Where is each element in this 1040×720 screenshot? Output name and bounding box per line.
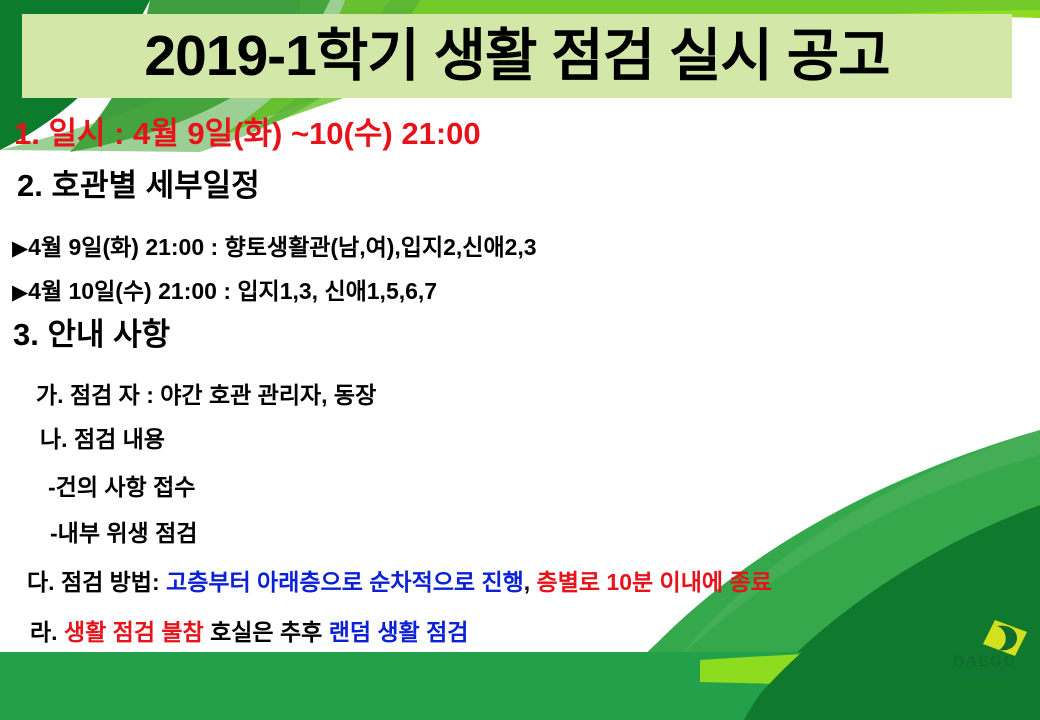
triangle-bullet-icon: ▶ [12,281,28,304]
notice-item-d-blue: 랜덤 생활 점검 [329,619,469,645]
notice-item-d-label: 라. [30,619,64,645]
triangle-bullet-icon: ▶ [12,237,28,260]
schedule-item-1: ▶4월 9일(화) 21:00 : 향토생활관(남,여),입지2,신애2,3 [12,236,537,259]
logo-subtitle: UNIVERSITY [954,671,1034,682]
notice-item-c-label: 다. 점검 방법: [27,569,166,595]
notice-item-a: 가. 점검 자 : 야간 호관 관리자, 동장 [36,384,376,407]
schedule-item-2: ▶4월 10일(수) 21:00 : 입지1,3, 신애1,5,6,7 [12,280,437,303]
notice-item-d-red: 생활 점검 불참 [64,619,204,645]
schedule-item-1-text: 4월 9일(화) 21:00 : 향토생활관(남,여),입지2,신애2,3 [28,234,536,260]
bottom-green-band [0,652,1040,720]
schedule-item-2-text: 4월 10일(수) 21:00 : 입지1,3, 신애1,5,6,7 [28,278,437,304]
section-2-heading: 2. 호관별 세부일정 [17,170,260,201]
notice-item-d: 라. 생활 점검 불참 호실은 추후 랜덤 생활 점검 [30,621,468,644]
notice-item-c-blue: 고층부터 아래층으로 순차적으로 진행 [166,569,524,595]
university-logo: DAEGU UNIVERSITY [953,618,1033,696]
notice-item-d-mid: 호실은 추후 [204,619,329,645]
notice-item-c-red: 층별로 10분 이내에 종료 [537,569,772,595]
notice-item-c: 다. 점검 방법: 고층부터 아래층으로 순차적으로 진행, 층별로 10분 이… [27,571,772,594]
notice-detail-1: -건의 사항 접수 [48,476,195,499]
section-1-datetime: 1. 일시 : 4월 9일(화) ~10(수) 21:00 [14,118,481,149]
notice-detail-2: -내부 위생 점검 [50,522,197,545]
page-title: 2019-1학기 생활 점검 실시 공고 [22,14,1012,98]
background-decoration [0,0,1040,720]
announcement-slide: 2019-1학기 생활 점검 실시 공고 1. 일시 : 4월 9일(화) ~1… [0,0,1040,720]
notice-item-b: 나. 점검 내용 [40,428,165,451]
daegu-leaf-mark-icon [953,618,1033,658]
logo-name: DAEGU [953,654,1033,670]
notice-item-c-comma: , [524,569,537,595]
section-3-heading: 3. 안내 사항 [13,319,170,350]
